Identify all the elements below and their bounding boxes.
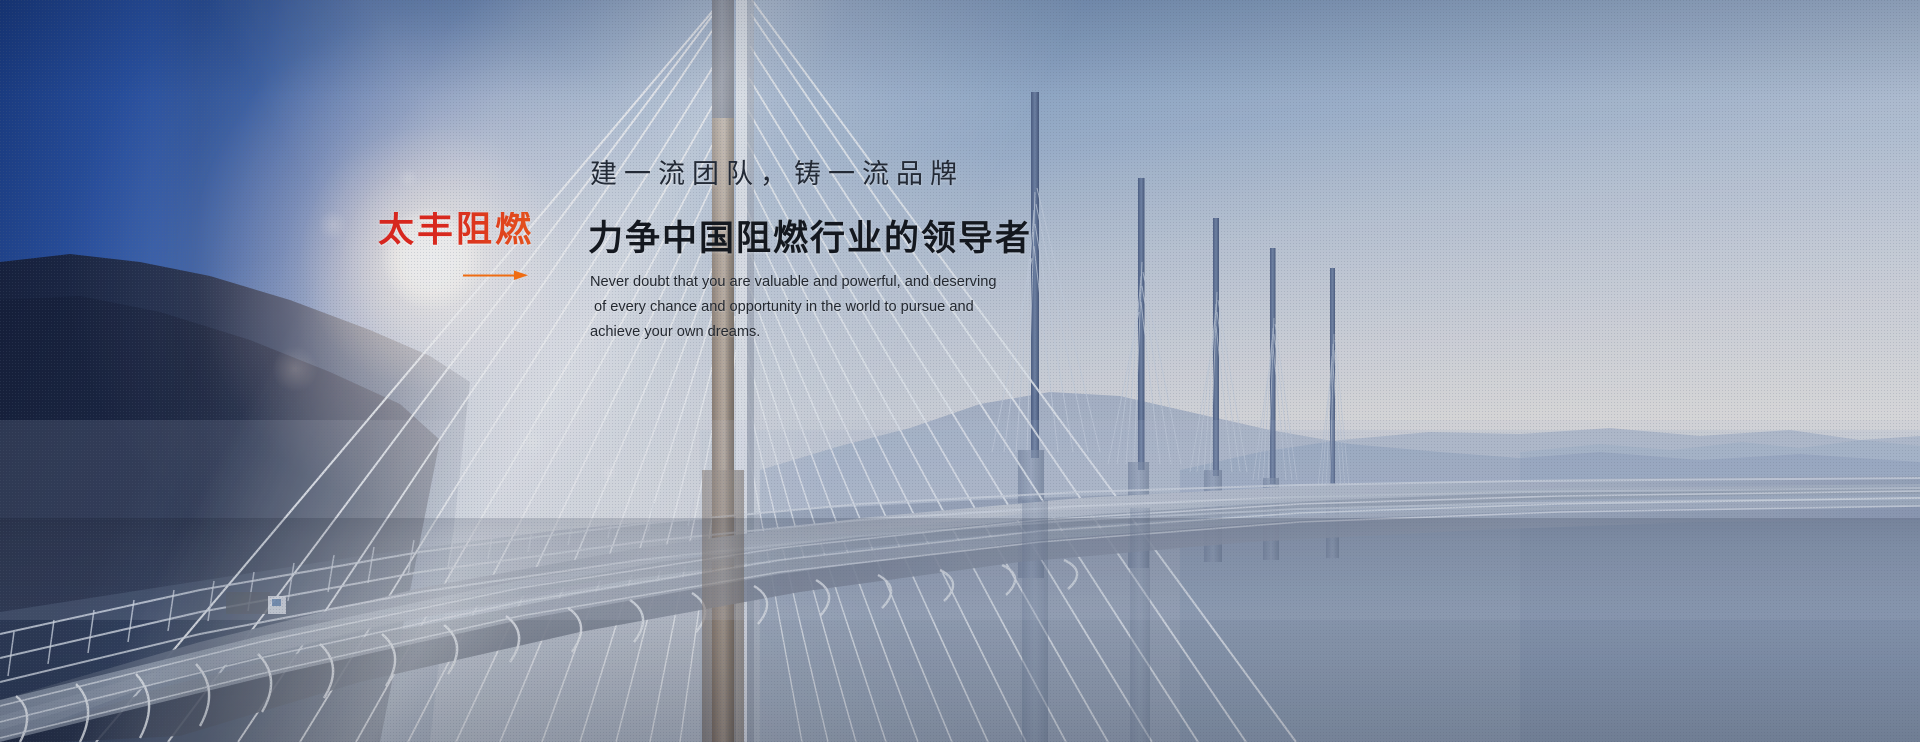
brand-logo[interactable]: 太丰阻燃 — [378, 212, 578, 248]
hero-copy: 太丰阻燃 建一流团队，铸一流品牌 力争中国阻燃行业的领导者 Never doub… — [0, 0, 1920, 742]
hero-paragraph-line-2: of every chance and opportunity in the w… — [590, 295, 1060, 320]
hero-paragraph-line-1: Never doubt that you are valuable and po… — [590, 270, 1060, 295]
arrow-right-icon — [462, 268, 530, 282]
hero-banner: 太丰阻燃 建一流团队，铸一流品牌 力争中国阻燃行业的领导者 Never doub… — [0, 0, 1920, 742]
hero-paragraph-line-3: achieve your own dreams. — [590, 320, 1060, 345]
brand-logo-text: 太丰阻燃 — [378, 212, 578, 248]
hero-subtitle: 建一流团队，铸一流品牌 — [590, 152, 964, 191]
hero-title: 力争中国阻燃行业的领导者 — [588, 210, 1032, 261]
hero-paragraph: Never doubt that you are valuable and po… — [590, 270, 1060, 345]
